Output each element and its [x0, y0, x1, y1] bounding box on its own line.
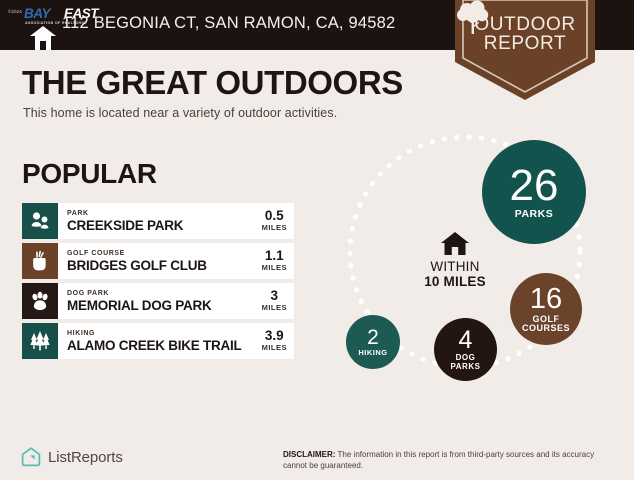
list-item-distance: 1.1 MILES [262, 249, 294, 273]
parks-count: 26 [510, 164, 559, 208]
hiking-label: HIKING [358, 349, 387, 357]
list-item[interactable]: DOG PARK MEMORIAL DOG PARK 3 MILES [22, 283, 294, 319]
list-item[interactable]: GOLF COURSE BRIDGES GOLF CLUB 1.1 MILES [22, 243, 294, 279]
distance-value: 3.9 [262, 329, 287, 343]
dog-parks-label: DOG PARKS [451, 354, 481, 371]
list-item-distance: 3 MILES [262, 289, 294, 313]
golf-icon [22, 243, 58, 279]
list-item[interactable]: HIKING ALAMO CREEK BIKE TRAIL 3.9 MILES [22, 323, 294, 359]
listreports-logo[interactable]: ListReports [20, 446, 123, 468]
list-item-name: BRIDGES GOLF CLUB [67, 258, 262, 273]
list-item-text: HIKING ALAMO CREEK BIKE TRAIL [58, 329, 262, 353]
distance-unit: MILES [262, 223, 287, 233]
stat-bubble-golf-courses[interactable]: 16 GOLF COURSES [510, 273, 582, 345]
list-item-text: GOLF COURSE BRIDGES GOLF CLUB [58, 249, 262, 273]
list-item-category: GOLF COURSE [67, 249, 262, 258]
golf-label: GOLF COURSES [522, 315, 570, 334]
dog-parks-count: 4 [459, 328, 473, 353]
mls-copyright: ©2024 [8, 9, 22, 14]
trees-icon [22, 323, 58, 359]
distance-value: 3 [262, 289, 287, 303]
list-item-category: DOG PARK [67, 289, 262, 298]
center-line-1: WITHIN [412, 259, 498, 274]
list-item-category: HIKING [67, 329, 262, 338]
home-icon [441, 232, 469, 256]
list-item[interactable]: PARK CREEKSIDE PARK 0.5 MILES [22, 203, 294, 239]
stat-bubble-hiking[interactable]: 2 HIKING [346, 315, 400, 369]
list-item-text: DOG PARK MEMORIAL DOG PARK [58, 289, 262, 313]
badge-line-2: REPORT [455, 33, 595, 55]
list-item-name: ALAMO CREEK BIKE TRAIL [67, 338, 262, 353]
list-item-category: PARK [67, 209, 262, 218]
page-subtitle: This home is located near a variety of o… [23, 106, 337, 120]
distance-value: 0.5 [262, 209, 287, 223]
within-10-miles-diagram: WITHIN 10 MILES 26 PARKS 16 GOLF COURSES… [330, 132, 630, 417]
golf-count: 16 [530, 285, 562, 314]
outdoor-report-page: ©2024 BAY EAST ASSOCIATION OF REALTORS® … [0, 0, 634, 480]
popular-heading: POPULAR [22, 158, 157, 190]
listreports-house-icon [20, 446, 42, 468]
golf-label-line-2: COURSES [522, 323, 570, 333]
park-icon [22, 203, 58, 239]
disclaimer-label: DISCLAIMER: [283, 450, 335, 459]
list-item-name: MEMORIAL DOG PARK [67, 298, 262, 313]
list-item-distance: 0.5 MILES [262, 209, 294, 233]
diagram-center-label: WITHIN 10 MILES [412, 232, 498, 289]
property-address: 112 BEGONIA CT, SAN RAMON, CA, 94582 [62, 14, 395, 33]
distance-unit: MILES [262, 343, 287, 353]
distance-unit: MILES [262, 263, 287, 273]
listreports-brand-name: ListReports [48, 449, 123, 466]
page-title: THE GREAT OUTDOORS [22, 64, 403, 102]
hiking-count: 2 [367, 327, 379, 348]
stat-bubble-parks[interactable]: 26 PARKS [482, 140, 586, 244]
list-item-name: CREEKSIDE PARK [67, 218, 262, 233]
parks-label: PARKS [515, 209, 553, 220]
stat-bubble-dog-parks[interactable]: 4 DOG PARKS [434, 318, 497, 381]
house-icon [30, 26, 56, 50]
distance-unit: MILES [262, 303, 287, 313]
popular-places-list: PARK CREEKSIDE PARK 0.5 MILES [22, 203, 294, 363]
tree-icon [455, 0, 491, 34]
center-line-2: 10 MILES [412, 274, 498, 289]
outdoor-report-badge: OUTDOOR REPORT [455, 0, 595, 100]
list-item-distance: 3.9 MILES [262, 329, 294, 353]
disclaimer: DISCLAIMER: The information in this repo… [283, 450, 613, 471]
distance-value: 1.1 [262, 249, 287, 263]
dog-label-line-2: PARKS [451, 362, 481, 371]
paw-icon [22, 283, 58, 319]
list-item-text: PARK CREEKSIDE PARK [58, 209, 262, 233]
mls-brand-bay: BAY [24, 6, 50, 21]
